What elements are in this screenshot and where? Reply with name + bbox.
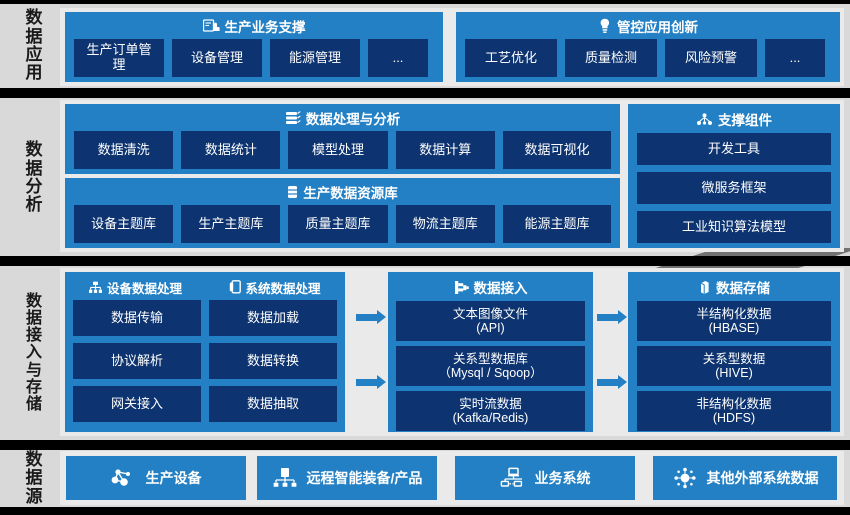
arrow-right-bottom [597, 376, 627, 388]
source-chip-label: 其他外部系统数据 [707, 468, 819, 488]
tier-label-char: 数 [26, 141, 43, 159]
tier-label-char: 存 [26, 379, 42, 396]
box-line1: 文本图像文件 [453, 307, 528, 321]
repo-item-equipment-subject-base[interactable]: 设备主题库 [74, 205, 173, 243]
system-items-column: 数据加载 数据转换 数据抽取 [209, 300, 337, 422]
divider-bottom [0, 507, 850, 515]
box-label: 能源主题库 [524, 217, 589, 232]
plug-connector-icon [454, 280, 469, 295]
box-label: 质量主题库 [306, 217, 371, 232]
box-label: 设备主题库 [91, 217, 156, 232]
app-item-quality-inspection[interactable]: 质量检测 [565, 39, 657, 77]
box-label: 数据传输 [111, 311, 163, 326]
box-line1: 关系型数据 [703, 352, 766, 366]
ingestion-item-relational-database[interactable]: 关系型数据库 （Mysql / Sqoop） [396, 346, 585, 386]
arrow-shaft [597, 379, 618, 386]
tier-label-char: 储 [26, 396, 42, 413]
device-items-column: 数据传输 协议解析 网关接入 [73, 300, 201, 422]
box-line1: 实时流数据 [453, 397, 529, 411]
dual-group-columns: 数据传输 协议解析 网关接入 数据加载 数据转换 数据抽取 [65, 300, 345, 422]
architecture-diagram: 数 据 应 用 生产业务支撑 生产订单管 理 [0, 0, 850, 515]
box-label: 协议解析 [111, 354, 163, 369]
arrow-head [377, 310, 386, 324]
group-title-row-system: 系统数据处理 [205, 276, 345, 298]
tier-label-char: 用 [26, 64, 43, 82]
analysis-item-model-processing[interactable]: 模型处理 [288, 131, 387, 169]
box-label: 模型处理 [312, 143, 364, 158]
network-nodes-icon [696, 113, 713, 126]
group-title-label: 支撑组件 [718, 109, 772, 129]
box-label: 物流主题库 [413, 217, 478, 232]
tier-label-char: 据 [26, 310, 42, 327]
group-title-row: 数据接入 [388, 276, 593, 298]
group-title-row-device: 设备数据处理 [65, 276, 205, 298]
group-items-column: 文本图像文件 (API) 关系型数据库 （Mysql / Sqoop） 实时流数… [388, 301, 593, 431]
box-label: 数据可视化 [524, 143, 589, 158]
divider-top [0, 0, 850, 4]
source-chip-label: 生产设备 [146, 468, 202, 488]
source-chip-business-system[interactable]: 业务系统 [455, 456, 635, 500]
group-title-label: 生产数据资源库 [303, 182, 398, 202]
box-line1: 非结构化数据 [696, 397, 771, 411]
box-line1: 半结构化数据 [696, 307, 771, 321]
tier-label-data-analysis: 数 据 分 析 [12, 118, 56, 238]
group-title-row: 数据处理与分析 [65, 107, 620, 129]
box-label: 设备管理 [191, 51, 243, 66]
box-label: 风险预警 [685, 51, 737, 66]
device-item-data-transmission[interactable]: 数据传输 [73, 300, 201, 336]
tier-label-data-application: 数 据 应 用 [12, 10, 56, 82]
tier-label-char: 与 [26, 362, 42, 379]
group-title-row: 生产数据资源库 [65, 181, 620, 203]
box-label: 能源管理 [289, 51, 341, 66]
box-line2: (HBASE) [696, 321, 771, 335]
stacked-layers-icon [285, 111, 301, 125]
molecule-nodes-icon [111, 467, 137, 489]
group-support-components[interactable]: 支撑组件 开发工具 微服务框架 工业知识算法模型 [628, 104, 840, 248]
storage-item-semistructured-hbase[interactable]: 半结构化数据 (HBASE) [637, 301, 831, 341]
server-rack-icon [272, 467, 298, 489]
network-hub-icon [672, 467, 698, 489]
divider-tier3-tier4 [0, 440, 850, 450]
box-line2: 理 [86, 58, 151, 73]
ingestion-item-text-image-file-api[interactable]: 文本图像文件 (API) [396, 301, 585, 341]
source-chip-label: 业务系统 [535, 468, 591, 488]
ingestion-item-realtime-stream-data[interactable]: 实时流数据 (Kafka/Redis) [396, 391, 585, 431]
tier-label-data-access-storage: 数 据 接 入 与 存 储 [12, 272, 56, 434]
group-items-row: 生产订单管 理 设备管理 能源管理 ... [65, 39, 443, 77]
box-line1: 关系型数据库 [438, 352, 542, 366]
divider-tier1-tier2 [0, 88, 850, 98]
database-icon [287, 185, 298, 199]
arrow-shaft [356, 379, 377, 386]
group-title-label: 数据接入 [474, 277, 528, 297]
group-title-row: 数据存储 [628, 276, 840, 298]
group-items-column: 开发工具 微服务框架 工业知识算法模型 [628, 133, 840, 243]
support-item-industrial-knowledge-algorithm-model[interactable]: 工业知识算法模型 [637, 211, 831, 243]
analysis-item-data-computation[interactable]: 数据计算 [396, 131, 495, 169]
arrow-head [377, 375, 386, 389]
analysis-item-data-cleaning[interactable]: 数据清洗 [74, 131, 173, 169]
box-label: 数据计算 [419, 143, 471, 158]
box-label: 数据转换 [247, 354, 299, 369]
app-item-energy-management[interactable]: 能源管理 [270, 39, 360, 77]
app-item-production-order-management[interactable]: 生产订单管 理 [74, 39, 164, 77]
repo-item-logistics-subject-base[interactable]: 物流主题库 [396, 205, 495, 243]
brain-head-icon [598, 18, 612, 34]
group-items-row: 工艺优化 质量检测 风险预警 ... [456, 39, 840, 77]
group-production-data-repository[interactable]: 生产数据资源库 设备主题库 生产主题库 质量主题库 物流主题库 能源主题库 [65, 178, 620, 248]
tier-label-char: 分 [26, 178, 43, 196]
group-data-processing-analysis[interactable]: 数据处理与分析 数据清洗 数据统计 模型处理 数据计算 数据可视化 [65, 104, 620, 174]
tier-label-char: 数 [26, 293, 42, 310]
tier-label-char: 入 [26, 344, 42, 361]
app-item-equipment-management[interactable]: 设备管理 [172, 39, 262, 77]
tier-label-char: 源 [26, 488, 43, 506]
arrow-shaft [356, 314, 377, 321]
analysis-item-data-visualization[interactable]: 数据可视化 [503, 131, 611, 169]
tier-label-char: 据 [26, 28, 43, 46]
tier-label-char: 接 [26, 327, 42, 344]
analysis-item-data-statistics[interactable]: 数据统计 [181, 131, 280, 169]
tier-label-data-source: 数 据 源 [12, 452, 56, 505]
device-network-icon [88, 281, 103, 294]
box-label: 数据清洗 [98, 143, 150, 158]
system-item-data-extraction[interactable]: 数据抽取 [209, 386, 337, 422]
group-title-label: 管控应用创新 [617, 16, 698, 36]
group-device-and-system-data-processing[interactable]: 设备数据处理 系统数据处理 数据传输 协议解析 网关接入 数据加载 数据转 [65, 272, 345, 432]
arrow-head [618, 310, 627, 324]
group-items-column: 半结构化数据 (HBASE) 关系型数据 (HIVE) 非结构化数据 (HDFS… [628, 301, 840, 431]
arrow-shaft [597, 314, 618, 321]
group-control-application-innovation[interactable]: 管控应用创新 工艺优化 质量检测 风险预警 ... [456, 12, 840, 82]
storage-item-relational-hive[interactable]: 关系型数据 (HIVE) [637, 346, 831, 386]
support-item-development-tools[interactable]: 开发工具 [637, 133, 831, 165]
box-label: 工艺优化 [485, 51, 537, 66]
support-item-microservice-framework[interactable]: 微服务框架 [637, 172, 831, 204]
box-label: 开发工具 [708, 142, 760, 157]
group-title-label: 数据处理与分析 [306, 108, 401, 128]
box-line2: (HIVE) [703, 366, 766, 380]
box-line2: （Mysql / Sqoop） [438, 366, 542, 380]
tier-label-char: 据 [26, 469, 43, 487]
box-label: ... [790, 51, 801, 66]
group-items-row: 数据清洗 数据统计 模型处理 数据计算 数据可视化 [65, 131, 620, 169]
divider-tier2-tier3 [0, 256, 850, 266]
source-chip-other-external-system-data[interactable]: 其他外部系统数据 [653, 456, 837, 500]
group-production-business-support[interactable]: 生产业务支撑 生产订单管 理 设备管理 能源管理 ... [65, 12, 443, 82]
tier-label-char: 数 [26, 451, 43, 469]
group-title-row: 支撑组件 [628, 108, 840, 130]
app-item-more[interactable]: ... [368, 39, 428, 77]
tier-data-application: 数 据 应 用 生产业务支撑 生产订单管 理 [0, 4, 850, 88]
arrow-left-bottom [356, 376, 386, 388]
app-item-more[interactable]: ... [765, 39, 825, 77]
system-item-data-conversion[interactable]: 数据转换 [209, 343, 337, 379]
repo-item-energy-subject-base[interactable]: 能源主题库 [503, 205, 611, 243]
tier-data-access-storage: 数 据 接 入 与 存 储 设备数据处理 [0, 266, 850, 440]
box-label: 生产主题库 [198, 217, 263, 232]
source-chip-label: 远程智能装备/产品 [307, 468, 423, 488]
group-title-label: 系统数据处理 [245, 278, 320, 297]
group-title-row: 生产业务支撑 [65, 15, 443, 37]
group-items-row: 设备主题库 生产主题库 质量主题库 物流主题库 能源主题库 [65, 205, 620, 243]
box-line1: 生产订单管 [86, 43, 151, 58]
box-line2: (Kafka/Redis) [453, 411, 529, 425]
system-item-data-loading[interactable]: 数据加载 [209, 300, 337, 336]
device-item-protocol-parsing[interactable]: 协议解析 [73, 343, 201, 379]
group-title-row: 管控应用创新 [456, 15, 840, 37]
box-label: 数据统计 [205, 143, 257, 158]
box-line2: (API) [453, 321, 528, 335]
arrow-right-top [597, 311, 627, 323]
repo-item-production-subject-base[interactable]: 生产主题库 [181, 205, 280, 243]
dual-group-titles: 设备数据处理 系统数据处理 [65, 272, 345, 298]
computers-icon [500, 467, 526, 489]
group-data-ingestion[interactable]: 数据接入 文本图像文件 (API) 关系型数据库 （Mysql / Sqoop） [388, 272, 593, 432]
app-item-process-optimization[interactable]: 工艺优化 [465, 39, 557, 77]
box-label: ... [393, 51, 404, 66]
arrow-head [618, 375, 627, 389]
tier-label-char: 据 [26, 160, 43, 178]
group-data-storage[interactable]: 数据存储 半结构化数据 (HBASE) 关系型数据 (HIVE) [628, 272, 840, 432]
box-label: 质量检测 [585, 51, 637, 66]
tier-label-char: 数 [26, 9, 43, 27]
tier-label-char: 应 [26, 46, 43, 64]
source-chip-production-equipment[interactable]: 生产设备 [66, 456, 246, 500]
box-label: 数据加载 [247, 311, 299, 326]
tier-label-char: 析 [26, 196, 43, 214]
tier-data-analysis: 数 据 分 析 数据处理与分析 数据清洗 数据统计 模型处理 数据计算 数据可视… [0, 98, 850, 256]
mobile-device-icon [229, 280, 242, 294]
box-label: 数据抽取 [247, 397, 299, 412]
box-line2: (HDFS) [696, 411, 771, 425]
arrow-left-top [356, 311, 386, 323]
box-label: 微服务框架 [701, 181, 766, 196]
device-item-gateway-access[interactable]: 网关接入 [73, 386, 201, 422]
group-title-label: 数据存储 [716, 277, 770, 297]
group-title-label: 生产业务支撑 [225, 16, 306, 36]
app-item-risk-warning[interactable]: 风险预警 [665, 39, 757, 77]
storage-cube-icon [698, 280, 711, 295]
repo-item-quality-subject-base[interactable]: 质量主题库 [288, 205, 387, 243]
source-chip-remote-smart-equipment[interactable]: 远程智能装备/产品 [257, 456, 437, 500]
box-label: 工业知识算法模型 [682, 220, 786, 235]
tier-data-source: 数 据 源 生产设备 远程智能装备/产品 业务系统 [0, 450, 850, 507]
storage-item-unstructured-hdfs[interactable]: 非结构化数据 (HDFS) [637, 391, 831, 431]
document-hand-icon [203, 19, 220, 34]
group-title-label: 设备数据处理 [107, 278, 182, 297]
box-label: 网关接入 [111, 397, 163, 412]
